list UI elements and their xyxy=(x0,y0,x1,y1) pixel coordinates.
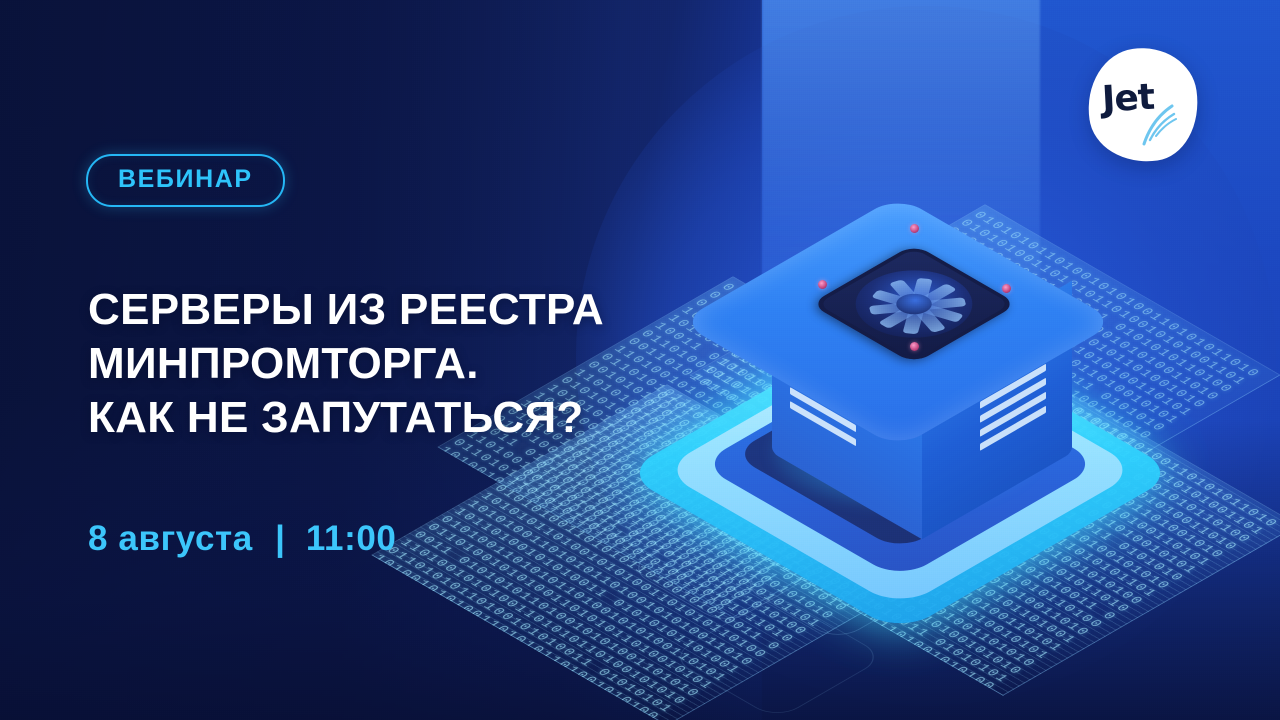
event-date: 8 августа xyxy=(88,519,253,558)
page-title: СЕРВЕРЫ ИЗ РЕЕСТРА МИНПРОМТОРГА. КАК НЕ … xyxy=(88,283,738,445)
headline-line-2: МИНПРОМТОРГА. xyxy=(88,337,738,391)
schedule-line: 8 августа | 11:00 xyxy=(88,519,396,559)
event-time: 11:00 xyxy=(306,519,397,558)
headline-line-1: СЕРВЕРЫ ИЗ РЕЕСТРА xyxy=(88,283,738,337)
jet-logo: Jet xyxy=(1088,48,1198,162)
webinar-banner: 0101010110100101010011010101101001010100… xyxy=(0,0,1280,720)
webinar-badge: ВЕБИНАР xyxy=(86,154,285,207)
jet-wordmark: Jet xyxy=(1101,77,1155,121)
schedule-separator: | xyxy=(275,519,285,558)
headline-line-3: КАК НЕ ЗАПУТАТЬСЯ? xyxy=(88,391,738,445)
